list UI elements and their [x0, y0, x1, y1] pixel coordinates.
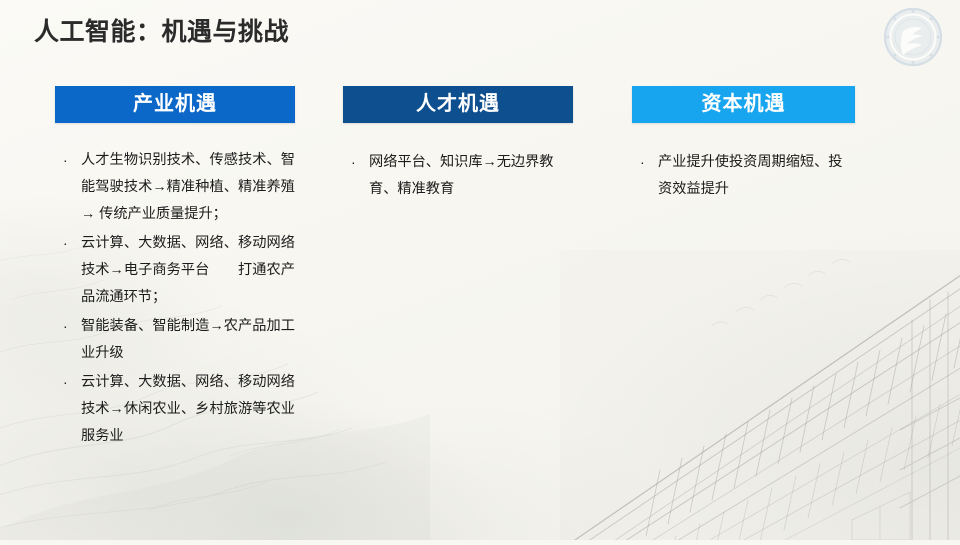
- slide-title: 人工智能：机遇与挑战: [34, 12, 289, 48]
- list-item-text: 人才生物识别技术、传感技术、智能驾驶技术→精准种植、精准养殖→ 传统产业质量提升…: [81, 152, 295, 222]
- bullet-marker: ·: [63, 369, 68, 396]
- column-industry-opportunity: 产业机遇 · 人才生物识别技术、传感技术、智能驾驶技术→精准种植、精准养殖→ 传…: [55, 86, 295, 452]
- list-item-text: 云计算、大数据、网络、移动网络技术→休闲农业、乡村旅游等农业服务业: [81, 374, 295, 444]
- column-header-capital: 资本机遇: [632, 86, 855, 123]
- company-logo-watermark: [878, 4, 948, 70]
- bullet-list-industry: · 人才生物识别技术、传感技术、智能驾驶技术→精准种植、精准养殖→ 传统产业质量…: [55, 147, 295, 450]
- list-item-text: 网络平台、知识库→无边界教育、精准教育: [369, 154, 553, 197]
- bullet-marker: ·: [640, 149, 645, 176]
- list-item: · 云计算、大数据、网络、移动网络技术→休闲农业、乡村旅游等农业服务业: [55, 369, 295, 450]
- list-item: · 人才生物识别技术、传感技术、智能驾驶技术→精准种植、精准养殖→ 传统产业质量…: [55, 147, 295, 228]
- list-item-text: 智能装备、智能制造→农产品加工业升级: [81, 318, 295, 361]
- list-item: · 智能装备、智能制造→农产品加工业升级: [55, 313, 295, 367]
- list-item: · 产业提升使投资周期缩短、投资效益提升: [632, 149, 855, 203]
- list-item-text: 云计算、大数据、网络、移动网络技术→电子商务平台 打通农产品流通环节；: [81, 235, 295, 305]
- bullet-list-talent: · 网络平台、知识库→无边界教育、精准教育: [343, 149, 573, 203]
- column-talent-opportunity: 人才机遇 · 网络平台、知识库→无边界教育、精准教育: [343, 86, 573, 205]
- column-capital-opportunity: 资本机遇 · 产业提升使投资周期缩短、投资效益提升: [632, 86, 855, 205]
- bullet-list-capital: · 产业提升使投资周期缩短、投资效益提升: [632, 149, 855, 203]
- list-item-text: 产业提升使投资周期缩短、投资效益提升: [658, 154, 842, 197]
- bullet-marker: ·: [63, 147, 68, 174]
- list-item: · 网络平台、知识库→无边界教育、精准教育: [343, 149, 573, 203]
- column-header-talent: 人才机遇: [343, 86, 573, 123]
- column-header-industry: 产业机遇: [55, 86, 295, 123]
- bullet-marker: ·: [63, 230, 68, 257]
- bullet-marker: ·: [351, 149, 356, 176]
- bullet-marker: ·: [63, 313, 68, 340]
- list-item: · 云计算、大数据、网络、移动网络技术→电子商务平台 打通农产品流通环节；: [55, 230, 295, 311]
